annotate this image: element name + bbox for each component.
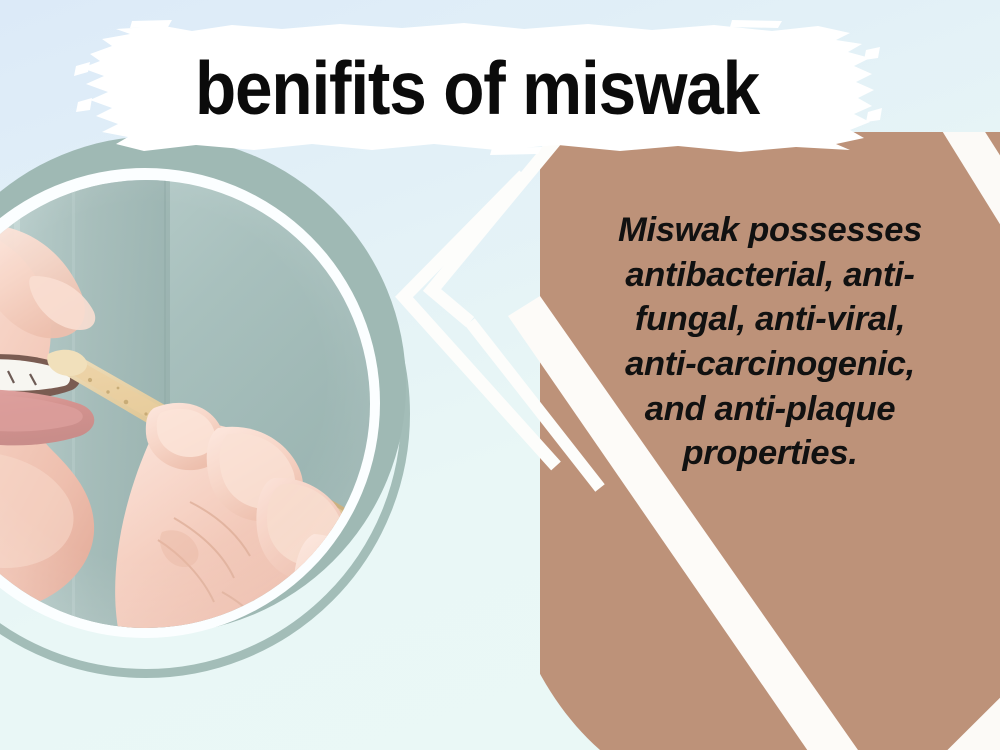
page-title: benifits of miswak	[113, 20, 842, 155]
poster-canvas: benifits of miswak Miswak possesses anti…	[0, 0, 1000, 750]
body-text: Miswak possesses antibacterial, anti- fu…	[560, 208, 980, 476]
title-banner: benifits of miswak	[72, 20, 882, 155]
